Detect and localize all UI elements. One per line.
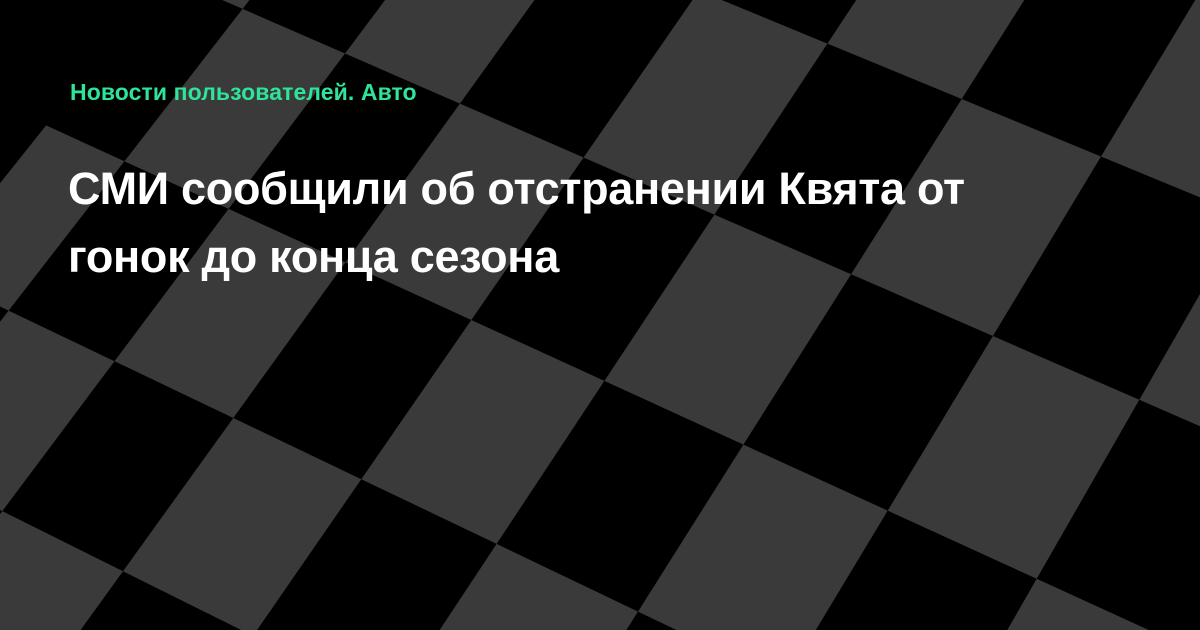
headline-line-1: СМИ сообщили об отстранении Квята от: [68, 155, 1128, 223]
card-content: Новости пользователей. Авто СМИ сообщили…: [0, 0, 1200, 630]
category-kicker: Новости пользователей. Авто: [70, 78, 417, 106]
headline-line-2: гонок до конца сезона: [68, 223, 1128, 291]
headline: СМИ сообщили об отстранении Квята от гон…: [68, 155, 1128, 291]
share-card: Новости пользователей. Авто СМИ сообщили…: [0, 0, 1200, 630]
